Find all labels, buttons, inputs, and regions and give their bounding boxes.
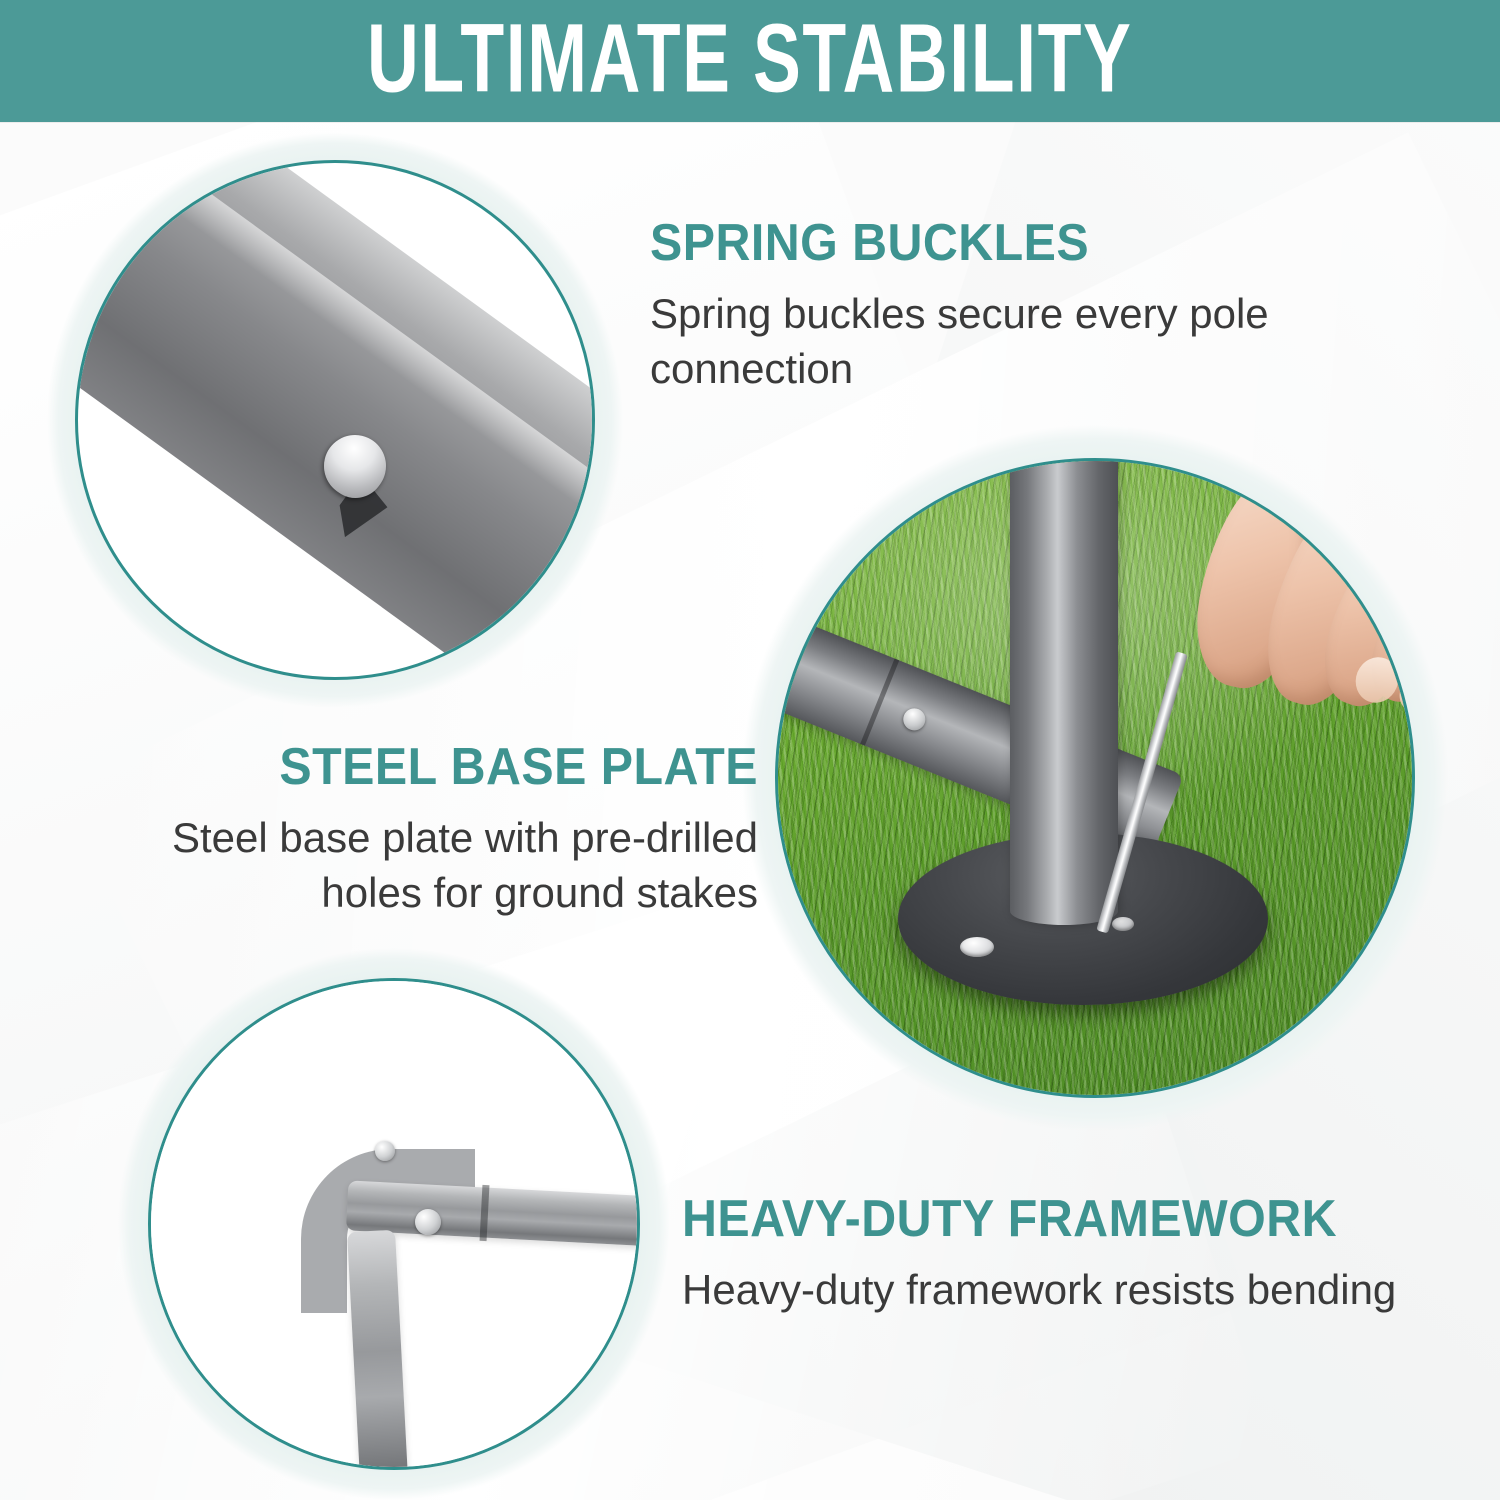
feature-body-steel-base-plate: Steel base plate with pre-drilled holes … [68,811,758,920]
base-plate-image [775,458,1415,1098]
spring-button-graphic [375,1141,395,1161]
pole-collar-graphic [860,659,899,746]
feature-body-spring-buckles: Spring buckles secure every pole connect… [650,287,1340,396]
feature-title-steel-base-plate: STEEL BASE PLATE [116,740,758,795]
feature-title-heavy-duty-framework: HEAVY-DUTY FRAMEWORK [682,1192,1370,1247]
vertical-pole-graphic [1010,458,1118,925]
header-banner: ULTIMATE STABILITY [0,0,1500,122]
pre-drilled-hole [1112,917,1134,931]
spring-button-graphic [415,1209,441,1235]
feature-title-spring-buckles: SPRING BUCKLES [650,216,1292,271]
feature-block-steel-base-plate: STEEL BASE PLATE Steel base plate with p… [68,740,758,920]
pre-drilled-hole [960,937,994,957]
spring-button-graphic [900,705,929,734]
hand-graphic [1186,461,1415,751]
spring-buckle-image [75,160,595,680]
feature-block-heavy-duty-framework: HEAVY-DUTY FRAMEWORK Heavy-duty framewor… [682,1192,1422,1318]
feature-block-spring-buckles: SPRING BUCKLES Spring buckles secure eve… [650,216,1340,396]
framework-joint-image [148,978,640,1470]
page-title: ULTIMATE STABILITY [367,10,1133,112]
feature-body-heavy-duty-framework: Heavy-duty framework resists bending [682,1263,1422,1318]
pole-tube-graphic [75,160,595,680]
